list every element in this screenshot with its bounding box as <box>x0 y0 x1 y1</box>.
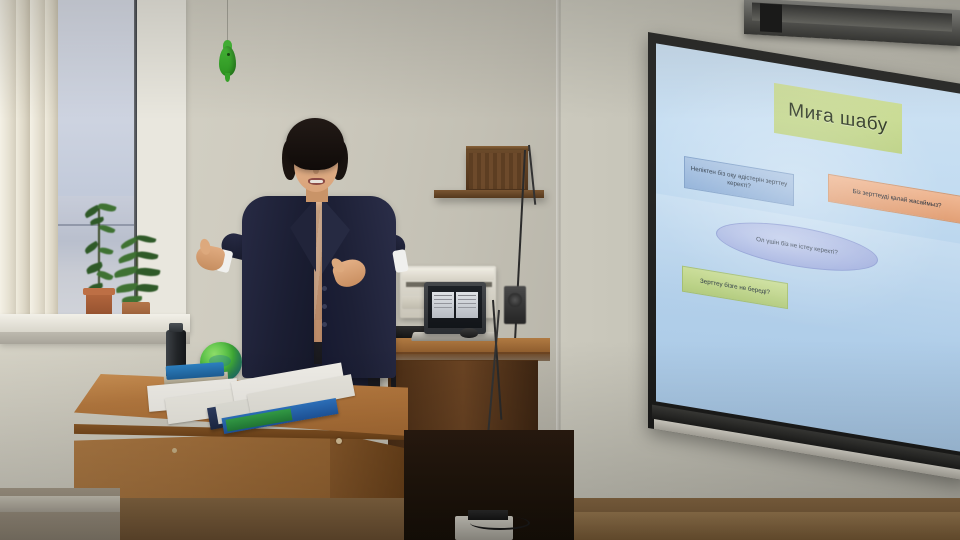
classroom-photo: Миға шабу Неліктен біз оқу әдістерін зер… <box>0 0 960 540</box>
presenter-hair <box>286 118 344 170</box>
slide-node-q2-text: Біз зерттеуді қалай жасаймыз? <box>853 188 942 210</box>
laptop-lid <box>424 282 486 334</box>
slide-node-q4-text: Зерттеу бізге не береді? <box>700 278 770 297</box>
window-sill <box>0 314 190 332</box>
slide-node-q3-text: Ол үшін біз не істеу керекті? <box>756 236 838 257</box>
slide-node-q1-text: Неліктен біз оқу әдістерін зерттеу керек… <box>690 165 788 197</box>
slide-node-q2: Біз зерттеуді қалай жасаймыз? <box>828 174 960 225</box>
presenter-mouth <box>308 178 325 185</box>
mouse[interactable] <box>460 328 478 338</box>
wall-shelf-plank <box>434 190 544 198</box>
light-overlay-top <box>0 0 960 120</box>
laptop-screen-pane-right <box>456 292 478 318</box>
slide-node-q3: Ол үшін біз не істеу керекті? <box>716 213 878 280</box>
speaker <box>504 286 526 324</box>
laptop[interactable] <box>424 282 498 344</box>
laptop-screen <box>428 286 482 328</box>
slide-node-q4: Зерттеу бізге не береді? <box>682 266 788 310</box>
slide-node-q1: Неліктен біз оқу әдістерін зерттеу керек… <box>684 156 794 206</box>
laptop-screen-pane-left <box>432 292 454 318</box>
wall-shelf-box <box>466 150 528 192</box>
light-overlay-bottom <box>0 340 960 540</box>
